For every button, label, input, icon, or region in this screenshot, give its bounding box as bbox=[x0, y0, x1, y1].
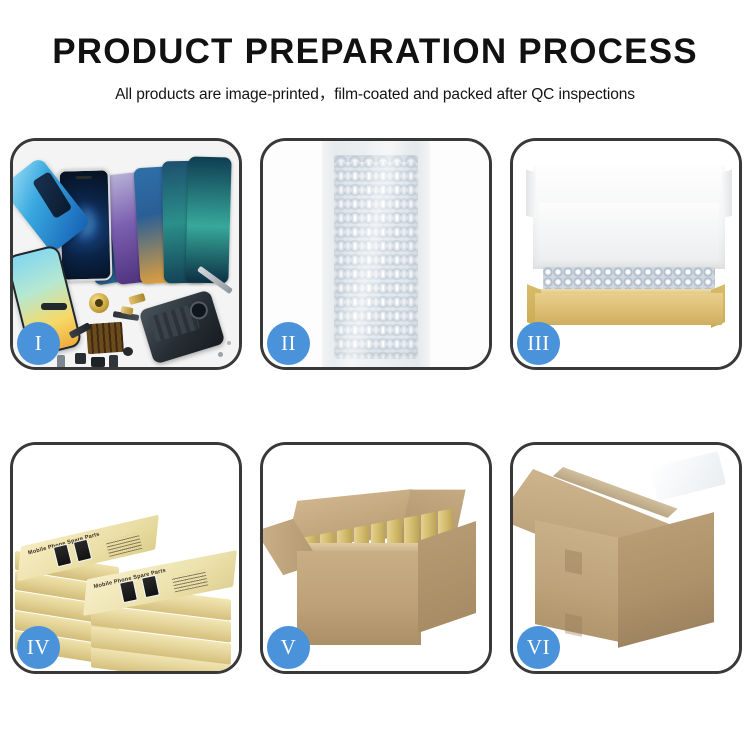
process-step-panel-4: Mobile Phone Spare Parts Mobile Phone Sp… bbox=[10, 442, 242, 674]
foam-sheet bbox=[539, 203, 719, 261]
process-step-grid: I II bbox=[10, 138, 742, 674]
header: PRODUCT PREPARATION PROCESS All products… bbox=[0, 0, 750, 104]
carton-front-face bbox=[297, 551, 421, 645]
screw-2 bbox=[227, 341, 231, 345]
step-badge-4: IV bbox=[17, 626, 60, 669]
bubble-wrap-bubbles-layer-2 bbox=[334, 162, 418, 359]
carton-flap-tab-2 bbox=[565, 613, 582, 637]
process-step-panel-3: III bbox=[510, 138, 742, 370]
phone-back-housing bbox=[138, 289, 225, 364]
carton-flap-tab-1 bbox=[565, 549, 582, 575]
small-component-1 bbox=[75, 353, 86, 364]
earpiece-component bbox=[41, 303, 67, 310]
step-badge-2: II bbox=[267, 322, 310, 365]
step-badge-3: III bbox=[517, 322, 560, 365]
process-step-panel-1: I bbox=[10, 138, 242, 370]
chip-array-component bbox=[86, 322, 124, 354]
small-component-5 bbox=[123, 347, 133, 356]
process-step-panel-5: V bbox=[260, 442, 492, 674]
screw-1 bbox=[218, 352, 223, 357]
step-badge-6: VI bbox=[517, 626, 560, 669]
carton-side-face bbox=[418, 521, 476, 633]
page-subtitle: All products are image-printed，film-coat… bbox=[0, 82, 750, 104]
protective-film bbox=[650, 451, 726, 501]
product-preparation-infographic: PRODUCT PREPARATION PROCESS All products… bbox=[0, 0, 750, 750]
process-step-panel-2: II bbox=[260, 138, 492, 370]
small-component-4 bbox=[57, 355, 65, 367]
step-badge-1: I bbox=[17, 322, 60, 365]
box-front-face bbox=[535, 293, 723, 325]
page-title: PRODUCT PREPARATION PROCESS bbox=[0, 34, 750, 69]
phone-display-5 bbox=[185, 156, 231, 283]
step-badge-5: V bbox=[267, 626, 310, 669]
speaker-coil-component bbox=[89, 293, 109, 313]
gold-connector-1 bbox=[128, 293, 146, 305]
small-component-3 bbox=[109, 355, 118, 367]
process-step-panel-6: VI bbox=[510, 442, 742, 674]
small-component-2 bbox=[91, 357, 105, 367]
